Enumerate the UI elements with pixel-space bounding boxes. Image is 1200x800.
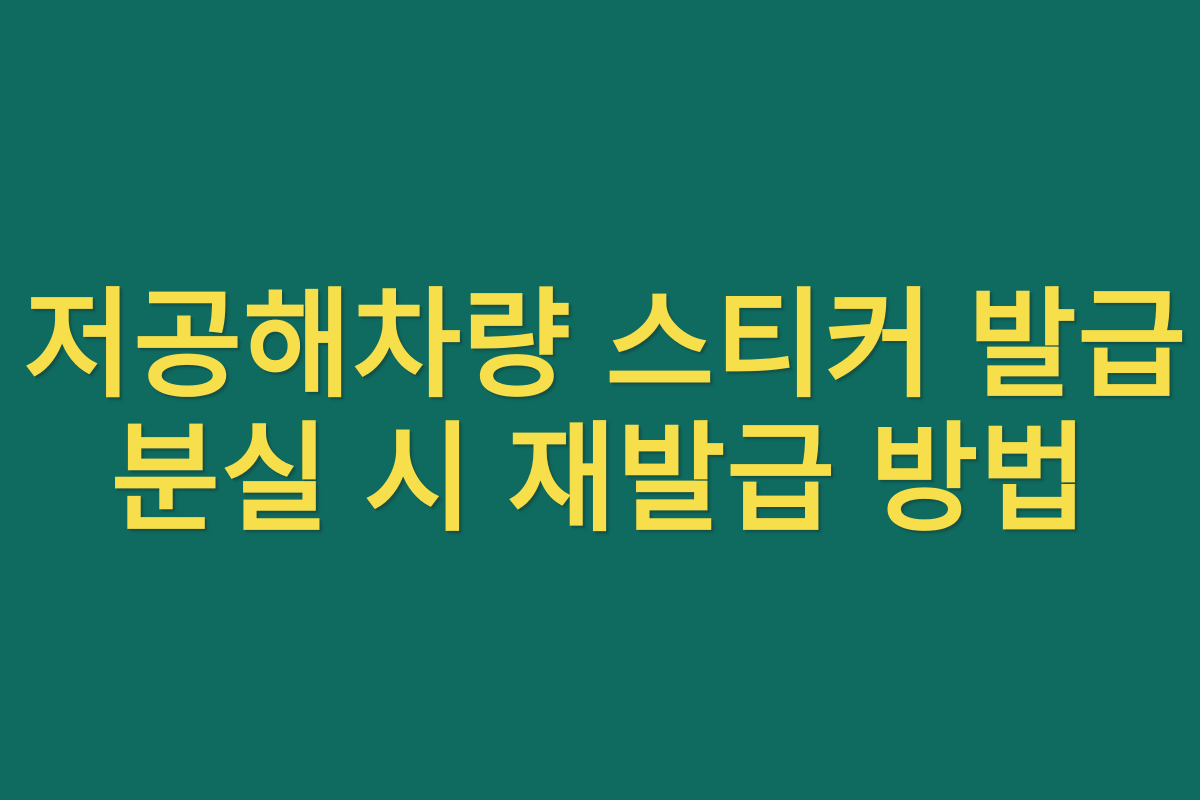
title-line-1: 저공해차량 스티커 발급 (24, 279, 1176, 413)
title-card: 저공해차량 스티커 발급 분실 시 재발급 방법 (0, 0, 1200, 800)
title-line-2: 분실 시 재발급 방법 (24, 413, 1176, 547)
title-block: 저공해차량 스티커 발급 분실 시 재발급 방법 (0, 279, 1200, 547)
